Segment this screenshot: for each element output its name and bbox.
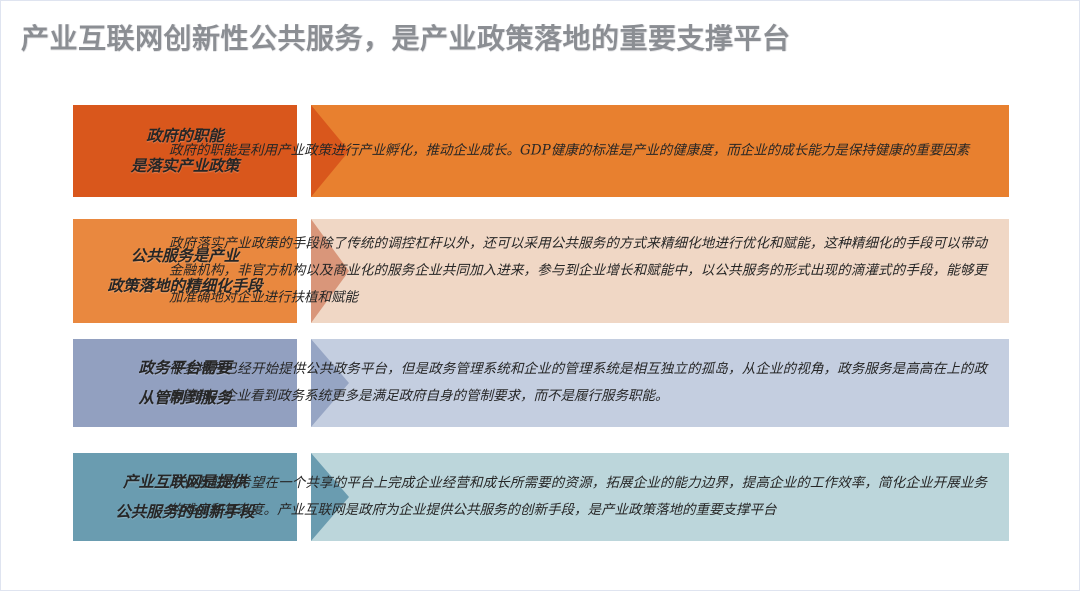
row-body-text: 政府落实产业政策的手段除了传统的调控杠杆以外，还可以采用公共服务的方式来精细化地…: [169, 231, 987, 312]
row-body-text: 产业互联网希望在一个共享的平台上完成企业经营和成长所需要的资源，拓展企业的能力边…: [169, 470, 987, 524]
title-bar: 产业互联网创新性公共服务，是产业政策落地的重要支撑平台: [21, 19, 1021, 67]
slide-canvas: 产业互联网创新性公共服务，是产业政策落地的重要支撑平台 政府的职能 是落实产业政…: [0, 0, 1080, 591]
process-row: 政务平台需要 从管制到服务 很多地方已经开始提供公共政务平台，但是政务管理系统和…: [73, 339, 1009, 427]
page-title: 产业互联网创新性公共服务，是产业政策落地的重要支撑平台: [21, 19, 1021, 59]
row-body-text: 很多地方已经开始提供公共政务平台，但是政务管理系统和企业的管理系统是相互独立的孤…: [169, 356, 987, 410]
process-row: 政府的职能 是落实产业政策 政府的职能是利用产业政策进行产业孵化，推动企业成长。…: [73, 105, 1009, 197]
process-row: 公共服务是产业 政策落地的精细化手段 政府落实产业政策的手段除了传统的调控杠杆以…: [73, 219, 1009, 323]
row-body-text: 政府的职能是利用产业政策进行产业孵化，推动企业成长。GDP健康的标准是产业的健康…: [169, 138, 987, 165]
process-row: 产业互联网是提供 公共服务的创新手段 产业互联网希望在一个共享的平台上完成企业经…: [73, 453, 1009, 541]
